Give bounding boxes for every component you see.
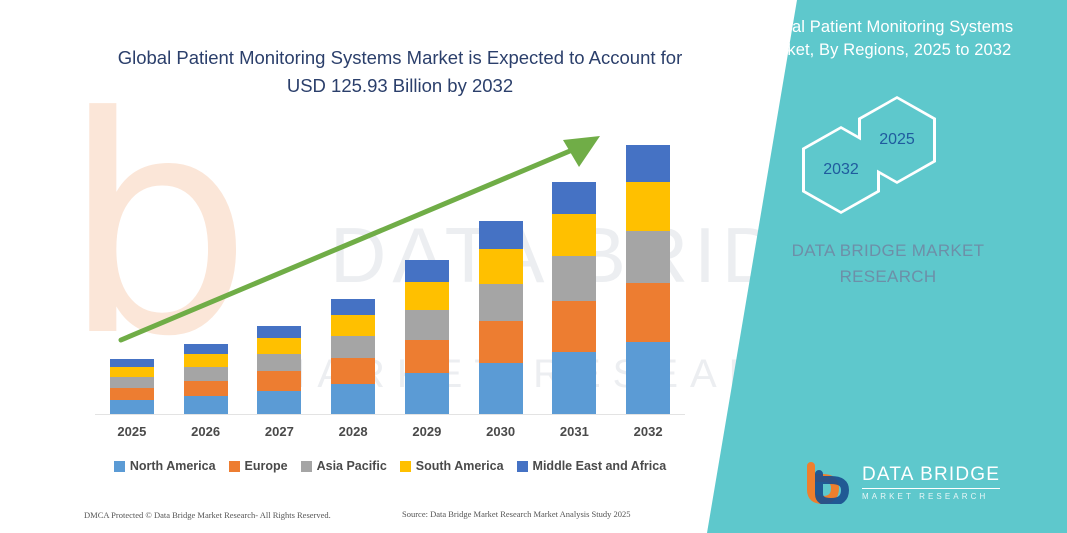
bar-segment-south-america[interactable] [552,214,596,256]
bar-segment-north-america[interactable] [552,352,596,415]
bar-segment-south-america[interactable] [257,338,301,354]
hexagon-label-2025: 2025 [879,131,915,149]
bar-segment-north-america[interactable] [331,384,375,415]
footer-source: Source: Data Bridge Market Research Mark… [402,509,631,519]
page-title: Global Patient Monitoring Systems Market… [110,44,690,100]
legend-item-middle-east-and-africa[interactable]: Middle East and Africa [517,459,667,473]
bar-2030[interactable] [479,221,523,415]
bar-segment-south-america[interactable] [331,315,375,336]
bar-2025[interactable] [110,359,154,415]
bar-segment-south-america[interactable] [110,367,154,377]
legend-swatch-icon [517,461,528,472]
legend-item-asia-pacific[interactable]: Asia Pacific [301,459,387,473]
x-axis-tick-2032: 2032 [626,424,670,439]
hexagon-label-2032: 2032 [823,161,859,179]
bar-segment-middle-east-and-africa[interactable] [257,326,301,338]
legend-item-north-america[interactable]: North America [114,459,216,473]
legend-label: North America [130,459,216,473]
bar-segment-middle-east-and-africa[interactable] [184,344,228,354]
bar-2029[interactable] [405,260,449,415]
x-axis-line [95,414,685,415]
x-axis-tick-2027: 2027 [257,424,301,439]
infographic-canvas: b DATA BRIDGE MARKET RESEARCH Global Pat… [0,0,1067,533]
logo-b-icon [805,460,853,504]
bar-segment-asia-pacific[interactable] [479,284,523,321]
bar-segment-north-america[interactable] [405,373,449,415]
bar-2026[interactable] [184,344,228,415]
logo-subtitle: MARKET RESEARCH [862,492,1000,501]
bar-segment-europe[interactable] [405,340,449,373]
x-axis-tick-2028: 2028 [331,424,375,439]
bar-segment-middle-east-and-africa[interactable] [405,260,449,282]
x-axis-tick-2031: 2031 [552,424,596,439]
bar-segment-north-america[interactable] [479,363,523,415]
bar-segment-middle-east-and-africa[interactable] [479,221,523,249]
bar-segment-middle-east-and-africa[interactable] [110,359,154,367]
legend-label: Middle East and Africa [533,459,667,473]
bar-segment-europe[interactable] [552,301,596,352]
bar-segment-south-america[interactable] [626,182,670,231]
data-bridge-logo: DATA BRIDGE MARKET RESEARCH [805,460,1000,504]
bar-segment-asia-pacific[interactable] [184,367,228,381]
bar-segment-europe[interactable] [184,381,228,396]
logo-title: DATA BRIDGE [862,464,1000,489]
bar-segment-europe[interactable] [257,371,301,391]
stacked-bar-chart [95,120,685,415]
logo-text-block: DATA BRIDGE MARKET RESEARCH [862,464,1000,501]
bar-segment-europe[interactable] [110,388,154,400]
bar-segment-north-america[interactable] [257,391,301,415]
bar-segment-middle-east-and-africa[interactable] [626,145,670,182]
bar-segment-asia-pacific[interactable] [552,256,596,301]
bar-segment-asia-pacific[interactable] [331,336,375,358]
legend-label: South America [416,459,504,473]
bar-segment-europe[interactable] [479,321,523,363]
chart-plot-area [95,122,685,415]
bar-2031[interactable] [552,182,596,415]
legend-label: Asia Pacific [317,459,387,473]
x-axis-tick-2029: 2029 [405,424,449,439]
chart-legend: North AmericaEuropeAsia PacificSouth Ame… [95,459,685,473]
bar-2028[interactable] [331,299,375,415]
bar-segment-asia-pacific[interactable] [626,231,670,283]
legend-swatch-icon [301,461,312,472]
hexagon-badges: 2032 2025 [802,96,992,216]
bar-segment-north-america[interactable] [626,342,670,415]
x-axis-tick-2025: 2025 [110,424,154,439]
panel-title: Global Patient Monitoring Systems Market… [735,16,1035,63]
footer-copyright: DMCA Protected © Data Bridge Market Rese… [84,510,331,520]
legend-swatch-icon [114,461,125,472]
x-axis-tick-2030: 2030 [479,424,523,439]
bar-segment-asia-pacific[interactable] [110,377,154,388]
bar-segment-asia-pacific[interactable] [257,354,301,371]
bar-segment-south-america[interactable] [479,249,523,284]
panel-brand-text: DATA BRIDGE MARKET RESEARCH [743,238,1033,291]
bar-segment-middle-east-and-africa[interactable] [331,299,375,315]
bar-segment-asia-pacific[interactable] [405,310,449,340]
right-side-panel: Global Patient Monitoring Systems Market… [707,0,1067,533]
legend-item-europe[interactable]: Europe [229,459,288,473]
bar-2027[interactable] [257,326,301,415]
x-axis-labels: 20252026202720282029203020312032 [95,424,685,439]
legend-label: Europe [245,459,288,473]
bar-segment-north-america[interactable] [184,396,228,415]
bar-segment-europe[interactable] [626,283,670,342]
legend-item-south-america[interactable]: South America [400,459,504,473]
bar-2032[interactable] [626,145,670,415]
legend-swatch-icon [400,461,411,472]
bar-segment-south-america[interactable] [405,282,449,310]
bar-segment-south-america[interactable] [184,354,228,367]
x-axis-tick-2026: 2026 [184,424,228,439]
bar-segment-europe[interactable] [331,358,375,384]
legend-swatch-icon [229,461,240,472]
bar-segment-middle-east-and-africa[interactable] [552,182,596,214]
bar-segment-north-america[interactable] [110,400,154,415]
